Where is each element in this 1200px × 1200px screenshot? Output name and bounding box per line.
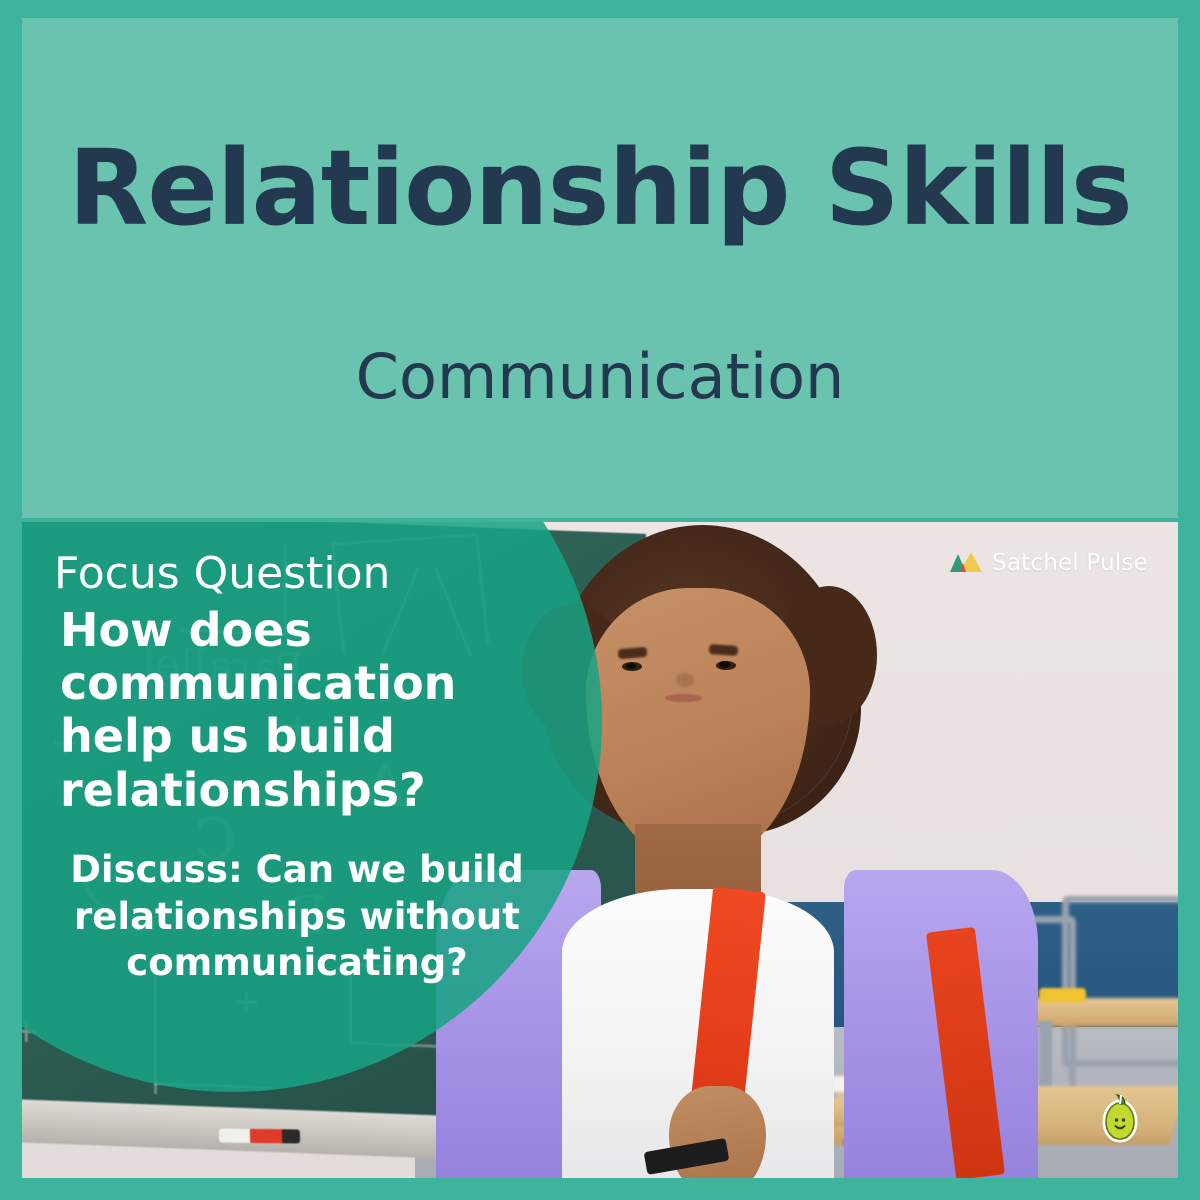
- nose: [676, 673, 694, 687]
- satchel-pulse-logo: Satchel Pulse: [949, 550, 1148, 576]
- slide-canvas: Relationship Skills Communication Parall…: [0, 0, 1200, 1200]
- satchel-triangles-icon: [949, 552, 983, 574]
- focus-question-label: Focus Question: [22, 550, 562, 598]
- chair: [1062, 896, 1178, 1067]
- eye-right: [716, 661, 736, 670]
- focus-question-text: How does communication help us build rel…: [22, 604, 480, 817]
- header-panel: Relationship Skills Communication: [22, 18, 1178, 518]
- page-subtitle: Communication: [22, 346, 1178, 408]
- eyebrow-left: [617, 647, 647, 659]
- discuss-prompt-text: Discuss: Can we build relationships with…: [22, 847, 562, 987]
- eye-left: [622, 662, 642, 671]
- student-face: [586, 588, 809, 864]
- mouth: [665, 694, 703, 703]
- paper: [1039, 988, 1085, 1002]
- satchel-pulse-label: Satchel Pulse: [992, 550, 1148, 576]
- focus-question-block: Focus Question How does communication he…: [22, 522, 562, 987]
- marker: [218, 1128, 299, 1143]
- photo-panel: Parallel + + A C 2 D + +: [22, 522, 1178, 1178]
- pear-logo-icon: [1097, 1091, 1143, 1143]
- page-title: Relationship Skills: [22, 136, 1178, 240]
- eyebrow-right: [709, 644, 739, 656]
